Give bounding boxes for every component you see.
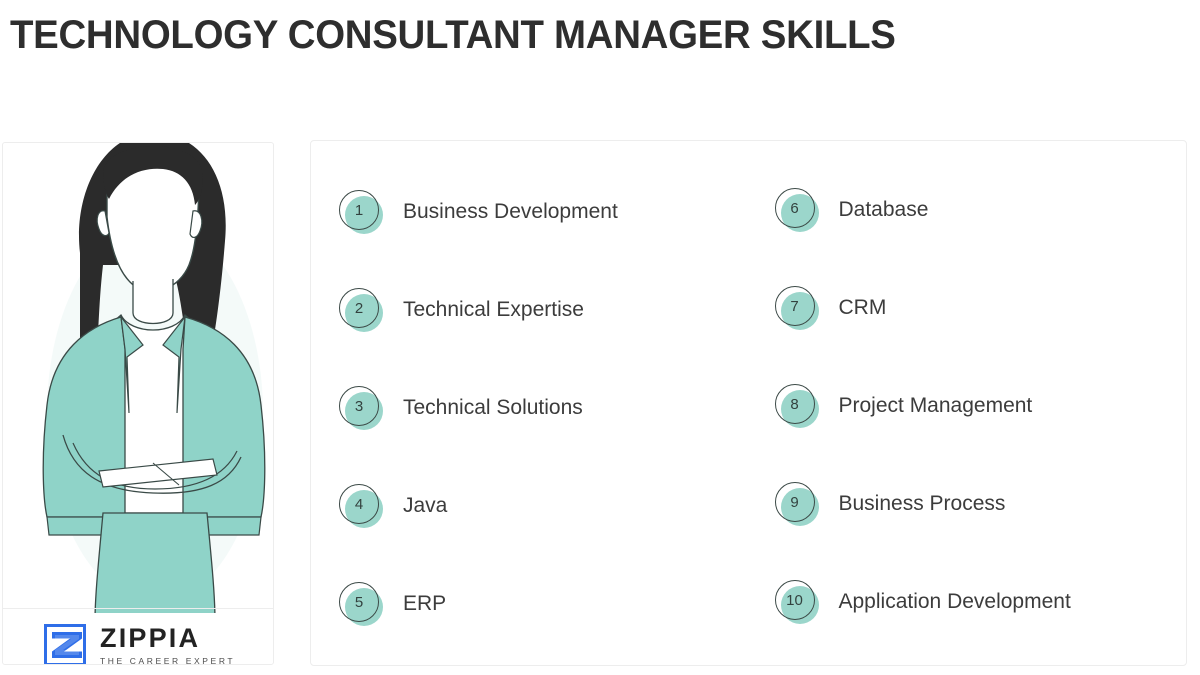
skill-item-6[interactable]: 6 Database bbox=[775, 182, 929, 238]
skill-label-1: Business Development bbox=[403, 200, 618, 224]
skill-number-badge-3: 3 bbox=[339, 386, 383, 430]
skill-label-9: Business Process bbox=[839, 492, 1006, 516]
skill-item-10[interactable]: 10 Application Development bbox=[775, 574, 1071, 630]
zippia-wordmark: ZIPPIA bbox=[100, 625, 235, 652]
skill-number-badge-6: 6 bbox=[775, 188, 819, 232]
skill-number-badge-2: 2 bbox=[339, 288, 383, 332]
skill-label-8: Project Management bbox=[839, 394, 1033, 418]
skill-label-2: Technical Expertise bbox=[403, 298, 584, 322]
badge-number: 4 bbox=[339, 484, 379, 524]
skill-label-5: ERP bbox=[403, 592, 446, 616]
skill-number-badge-8: 8 bbox=[775, 384, 819, 428]
skill-label-4: Java bbox=[403, 494, 447, 518]
badge-number: 3 bbox=[339, 386, 379, 426]
skill-item-8[interactable]: 8 Project Management bbox=[775, 378, 1033, 434]
skill-label-7: CRM bbox=[839, 296, 887, 320]
skill-item-1[interactable]: 1 Business Development bbox=[339, 184, 618, 240]
page-title: TECHNOLOGY CONSULTANT MANAGER SKILLS bbox=[10, 13, 896, 58]
skills-right-column: 6 Database 7 CRM 8 Project Management bbox=[749, 141, 1187, 665]
panel-divider bbox=[3, 608, 273, 609]
badge-number: 10 bbox=[775, 580, 815, 620]
skill-number-badge-7: 7 bbox=[775, 286, 819, 330]
skill-label-6: Database bbox=[839, 198, 929, 222]
skill-item-9[interactable]: 9 Business Process bbox=[775, 476, 1006, 532]
skill-number-badge-9: 9 bbox=[775, 482, 819, 526]
zippia-z-logo-icon bbox=[41, 621, 89, 665]
badge-number: 6 bbox=[775, 188, 815, 228]
skill-number-badge-4: 4 bbox=[339, 484, 383, 528]
badge-number: 7 bbox=[775, 286, 815, 326]
illustration-panel: ZIPPIA THE CAREER EXPERT bbox=[2, 142, 274, 665]
skill-item-2[interactable]: 2 Technical Expertise bbox=[339, 282, 584, 338]
skill-label-10: Application Development bbox=[839, 590, 1071, 614]
zippia-tagline: THE CAREER EXPERT bbox=[100, 657, 235, 665]
badge-number: 8 bbox=[775, 384, 815, 424]
skill-label-3: Technical Solutions bbox=[403, 396, 583, 420]
consultant-illustration bbox=[3, 142, 274, 613]
skill-item-5[interactable]: 5 ERP bbox=[339, 576, 446, 632]
skill-number-badge-1: 1 bbox=[339, 190, 383, 234]
zippia-logo: ZIPPIA THE CAREER EXPERT bbox=[41, 621, 235, 665]
skills-card: 1 Business Development 2 Technical Exper… bbox=[310, 140, 1187, 666]
skill-number-badge-5: 5 bbox=[339, 582, 383, 626]
badge-number: 2 bbox=[339, 288, 379, 328]
badge-number: 9 bbox=[775, 482, 815, 522]
badge-number: 1 bbox=[339, 190, 379, 230]
skill-number-badge-10: 10 bbox=[775, 580, 819, 624]
skill-item-4[interactable]: 4 Java bbox=[339, 478, 447, 534]
skill-item-3[interactable]: 3 Technical Solutions bbox=[339, 380, 583, 436]
skills-left-column: 1 Business Development 2 Technical Exper… bbox=[311, 141, 749, 665]
badge-number: 5 bbox=[339, 582, 379, 622]
skill-item-7[interactable]: 7 CRM bbox=[775, 280, 887, 336]
